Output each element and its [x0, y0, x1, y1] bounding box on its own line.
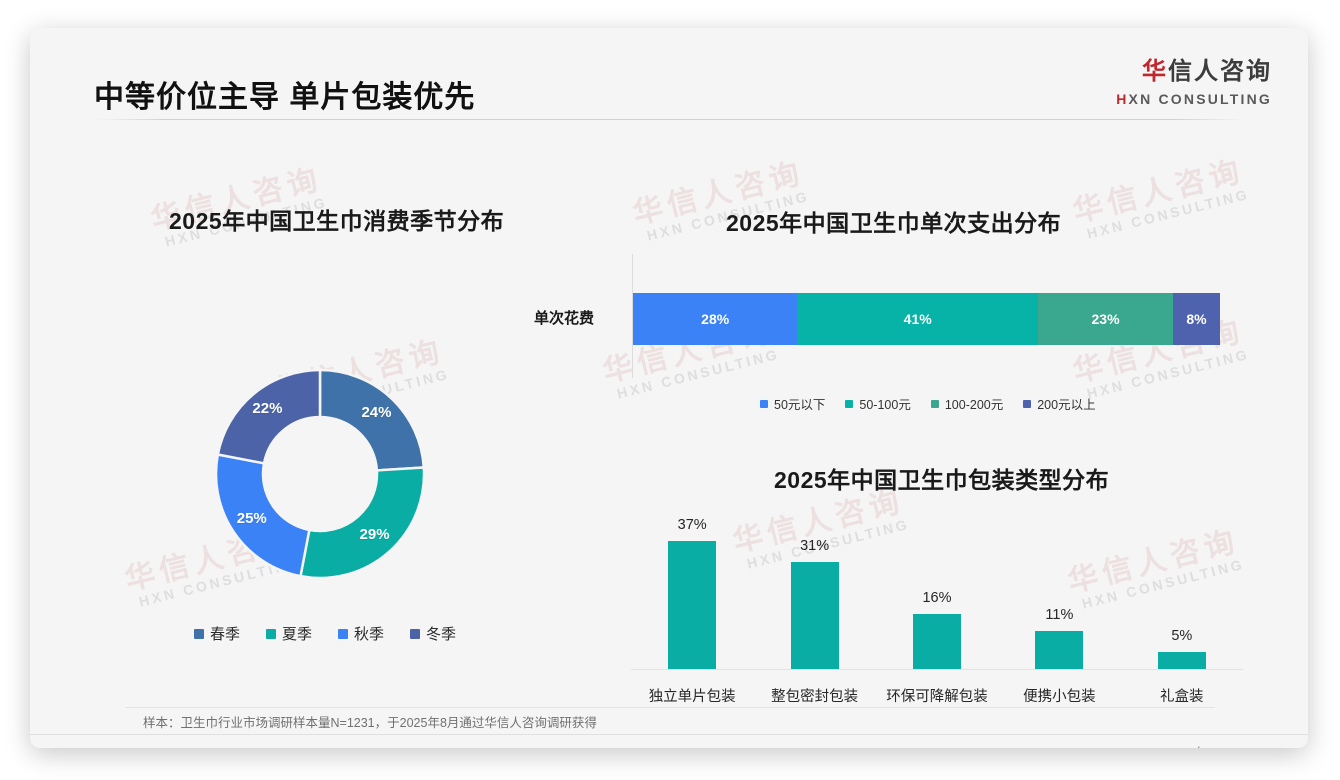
stacked-bar-segment-label: 41%: [904, 311, 932, 327]
legend-swatch-icon: [266, 629, 276, 639]
stacked-chart-legend: 50元以下50-100元100-200元200元以上: [760, 394, 1096, 413]
stacked-bar-segment[interactable]: 8%: [1173, 293, 1220, 345]
watermark: 华信人咨询 HXN CONSULTING: [1070, 156, 1251, 243]
column-category-label: 便携小包装: [989, 685, 1129, 706]
stacked-legend-label: 50-100元: [859, 394, 910, 413]
watermark-en: HXN CONSULTING: [1080, 556, 1246, 611]
donut-legend-label: 夏季: [282, 623, 312, 644]
brand-logo-en-rest: XN CONSULTING: [1129, 91, 1272, 107]
stacked-legend-item[interactable]: 50元以下: [760, 394, 825, 413]
column-chart-baseline: [631, 669, 1243, 670]
donut-chart: 24%29%25%22%: [212, 366, 428, 582]
column-bar-value: 11%: [1019, 607, 1099, 623]
donut-legend-item[interactable]: 夏季: [266, 623, 312, 644]
donut-legend-label: 春季: [210, 623, 240, 644]
footer-divider: [30, 734, 1308, 735]
stacked-legend-item[interactable]: 100-200元: [931, 394, 1003, 413]
stacked-legend-item[interactable]: 50-100元: [845, 394, 910, 413]
column-bar[interactable]: [791, 562, 839, 669]
stacked-legend-label: 100-200元: [945, 394, 1003, 413]
brand-logo-cn: 华信人咨询: [1116, 60, 1272, 84]
column-category-label: 独立单片包装: [622, 685, 762, 706]
page-title: 中等价位主导 单片包装优先: [94, 72, 475, 116]
donut-legend-item[interactable]: 冬季: [410, 623, 456, 644]
header-divider: [95, 119, 1245, 120]
footnote: 样本：卫生巾行业市场调研样本量N=1231，于2025年8月通过华信人咨询调研获…: [143, 712, 597, 731]
watermark-en: HXN CONSULTING: [1085, 186, 1251, 241]
stacked-legend-label: 200元以上: [1037, 394, 1095, 413]
donut-legend: 春季夏季秋季冬季: [194, 623, 456, 644]
column-bar[interactable]: [1158, 652, 1206, 669]
column-category-label: 礼盒装: [1112, 685, 1252, 706]
column-bar-value: 5%: [1142, 628, 1222, 644]
legend-swatch-icon: [845, 400, 853, 408]
column-bar[interactable]: [668, 541, 716, 669]
footnote-divider: [125, 707, 1215, 708]
stacked-bar-segment[interactable]: 28%: [633, 293, 797, 345]
watermark: 华信人咨询 HXN CONSULTING: [730, 486, 911, 573]
stacked-bar-segment[interactable]: 41%: [797, 293, 1038, 345]
donut-legend-item[interactable]: 秋季: [338, 623, 384, 644]
watermark-cn: 华信人咨询: [1070, 156, 1247, 229]
column-category-label: 整包密封包装: [745, 685, 885, 706]
column-bar[interactable]: [913, 614, 961, 669]
legend-swatch-icon: [338, 629, 348, 639]
column-bar-value: 16%: [897, 590, 977, 606]
column-category-label: 环保可降解包装: [867, 685, 1007, 706]
stacked-bar-segment-label: 8%: [1186, 311, 1206, 327]
footer-copyright: ©2025.10 HXR华信人咨询: [76, 745, 223, 748]
watermark-cn: 华信人咨询: [1065, 526, 1242, 599]
donut-slice-label: 22%: [249, 400, 285, 417]
donut-legend-label: 冬季: [426, 623, 456, 644]
donut-legend-item[interactable]: 春季: [194, 623, 240, 644]
donut-legend-label: 秋季: [354, 623, 384, 644]
legend-swatch-icon: [931, 400, 939, 408]
stacked-bar-segment[interactable]: 23%: [1038, 293, 1173, 345]
column-bar[interactable]: [1035, 631, 1083, 669]
column-bar-value: 37%: [652, 517, 732, 533]
column-chart-title: 2025年中国卫生巾包装类型分布: [774, 461, 1109, 495]
donut-slice-label: 25%: [234, 510, 270, 527]
watermark-en: HXN CONSULTING: [1085, 346, 1251, 401]
brand-logo-cn-accent: 华: [1142, 58, 1168, 85]
watermark: 华信人咨询 HXN CONSULTING: [1065, 526, 1246, 613]
footer-website[interactable]: www.hxrcon.com: [1168, 745, 1262, 748]
stacked-legend-item[interactable]: 200元以上: [1023, 394, 1095, 413]
donut-chart-title: 2025年中国卫生巾消费季节分布: [169, 202, 504, 236]
stacked-bar-segment-label: 28%: [701, 311, 729, 327]
brand-logo-cn-rest: 信人咨询: [1168, 58, 1272, 85]
watermark-en: HXN CONSULTING: [615, 346, 781, 401]
brand-logo-en-accent: H: [1116, 91, 1128, 107]
legend-swatch-icon: [1023, 400, 1031, 408]
legend-swatch-icon: [194, 629, 204, 639]
stacked-bar-segment-label: 23%: [1092, 311, 1120, 327]
slide-card: 华信人咨询 HXN CONSULTING 华信人咨询 HXN CONSULTIN…: [30, 28, 1308, 748]
legend-swatch-icon: [760, 400, 768, 408]
stacked-chart-title: 2025年中国卫生巾单次支出分布: [726, 204, 1061, 238]
stacked-bar: 28%41%23%8%: [633, 293, 1220, 345]
column-bar-value: 31%: [775, 538, 855, 554]
brand-logo-en: HXN CONSULTING: [1116, 92, 1272, 106]
brand-logo: 华信人咨询 HXN CONSULTING: [1116, 60, 1272, 106]
donut-slice-label: 24%: [358, 404, 394, 421]
donut-slice-label: 29%: [357, 526, 393, 543]
stacked-chart-category-label: 单次花费: [534, 307, 594, 328]
stacked-legend-label: 50元以下: [774, 394, 825, 413]
donut-chart-svg: [212, 366, 428, 582]
donut-hole: [263, 417, 377, 531]
legend-swatch-icon: [410, 629, 420, 639]
